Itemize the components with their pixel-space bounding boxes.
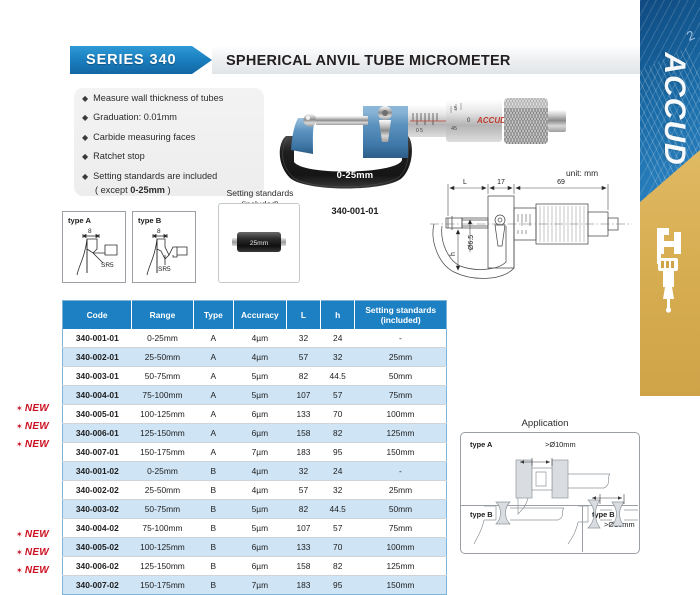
cell-accuracy: 7µm: [233, 443, 286, 462]
cell-type: B: [193, 481, 233, 500]
type-a-drawing: 8 SR5: [63, 225, 125, 281]
cell-range: 50-75mm: [132, 500, 194, 519]
cell-type: B: [193, 500, 233, 519]
cell-range: 150-175mm: [132, 576, 194, 595]
new-marker-label: NEW: [25, 565, 49, 576]
cell-type: A: [193, 329, 233, 348]
table-header-row: Code Range Type Accuracy L h Setting sta…: [63, 301, 447, 330]
cell-range: 100-125mm: [132, 538, 194, 557]
cell-accuracy: 4µm: [233, 348, 286, 367]
cell-code: 340-006-02: [63, 557, 132, 576]
cell-setting-standard: -: [355, 462, 447, 481]
cell-setting-standard: 75mm: [355, 519, 447, 538]
cell-height: 95: [320, 576, 354, 595]
column-header-type: Type: [193, 301, 233, 330]
feature-text: Setting standards are included: [93, 171, 217, 182]
bullet-icon: ◆: [82, 93, 88, 104]
cell-code: 340-002-01: [63, 348, 132, 367]
cell-setting-standard: 150mm: [355, 576, 447, 595]
cell-height: 32: [320, 481, 354, 500]
series-badge-label: SERIES 340: [70, 52, 176, 68]
cell-code: 340-004-02: [63, 519, 132, 538]
cell-height: 70: [320, 538, 354, 557]
technical-drawing: L 17 69 Ø6.5 h: [432, 172, 638, 284]
cell-height: 95: [320, 443, 354, 462]
cell-setting-standard: 50mm: [355, 500, 447, 519]
cell-code: 340-005-02: [63, 538, 132, 557]
cell-setting-standard: 25mm: [355, 348, 447, 367]
cell-length: 82: [286, 367, 320, 386]
table-row: 340-005-01100-125mmA6µm13370100mm: [63, 405, 447, 424]
cell-height: 44.5: [320, 367, 354, 386]
cell-setting-standard: 100mm: [355, 405, 447, 424]
cell-length: 183: [286, 443, 320, 462]
cell-range: 25-50mm: [132, 348, 194, 367]
note-suffix: ): [165, 185, 171, 195]
feature-item: ◆ Measure wall thickness of tubes: [82, 93, 272, 104]
type-b-diagram-box: type B 8 SR5: [132, 211, 196, 283]
svg-text:45: 45: [451, 126, 457, 132]
cell-range: 75-100mm: [132, 519, 194, 538]
cell-length: 133: [286, 405, 320, 424]
cell-length: 57: [286, 481, 320, 500]
cell-type: B: [193, 557, 233, 576]
cell-code: 340-005-01: [63, 405, 132, 424]
product-brand-text: ACCUD: [476, 116, 506, 125]
gauge-size-label: 25mm: [250, 240, 269, 247]
cell-accuracy: 6µm: [233, 405, 286, 424]
table-row: 340-002-0125-50mmA4µm573225mm: [63, 348, 447, 367]
cell-height: 82: [320, 424, 354, 443]
feature-item: ◆ Ratchet stop: [82, 151, 272, 162]
type-a-radius-label: SR5: [101, 262, 114, 269]
cell-length: 32: [286, 329, 320, 348]
cell-accuracy: 4µm: [233, 481, 286, 500]
type-a-label: type A: [68, 216, 91, 225]
series-badge: SERIES 340: [70, 46, 212, 74]
accud-watermark: ACCUD: [657, 49, 691, 169]
cell-type: A: [193, 405, 233, 424]
cell-accuracy: 5µm: [233, 519, 286, 538]
note-bold: 0-25mm: [130, 185, 165, 195]
bullet-icon: ◆: [82, 151, 88, 162]
cell-accuracy: 5µm: [233, 500, 286, 519]
cell-height: 70: [320, 405, 354, 424]
cell-code: 340-001-01: [63, 329, 132, 348]
column-header-code: Code: [63, 301, 132, 330]
type-b-dim-label: 8: [157, 228, 161, 235]
cell-code: 340-006-01: [63, 424, 132, 443]
table-row: 340-007-02150-175mmB7µm18395150mm: [63, 576, 447, 595]
application-panel-b-right: [568, 494, 638, 544]
cell-setting-standard: 125mm: [355, 557, 447, 576]
cell-height: 57: [320, 386, 354, 405]
setting-standard-gauge-image: 25mm: [232, 228, 286, 256]
cell-setting-standard: 75mm: [355, 386, 447, 405]
feature-item: ◆ Graduation: 0.01mm: [82, 112, 272, 123]
cell-accuracy: 5µm: [233, 367, 286, 386]
cell-code: 340-003-02: [63, 500, 132, 519]
table-row: 340-007-01150-175mmA7µm18395150mm: [63, 443, 447, 462]
brand-banner: 2 ACCUD: [640, 0, 700, 396]
table-row: 340-003-0150-75mmA5µm8244.550mm: [63, 367, 447, 386]
cell-code: 340-007-01: [63, 443, 132, 462]
cell-length: 107: [286, 386, 320, 405]
new-star-icon: ✶: [16, 422, 23, 431]
cell-height: 82: [320, 557, 354, 576]
cell-length: 183: [286, 576, 320, 595]
cell-accuracy: 6µm: [233, 424, 286, 443]
cell-range: 100-125mm: [132, 405, 194, 424]
feature-list: ◆ Measure wall thickness of tubes ◆ Grad…: [82, 93, 272, 195]
table-row: 340-006-02125-150mmB6µm15882125mm: [63, 557, 447, 576]
cell-code: 340-007-02: [63, 576, 132, 595]
cell-length: 158: [286, 557, 320, 576]
cell-setting-standard: 150mm: [355, 443, 447, 462]
cell-accuracy: 6µm: [233, 538, 286, 557]
column-header-setting-line2: (included): [357, 315, 444, 325]
new-marker: ✶NEW: [16, 525, 62, 543]
cell-type: A: [193, 348, 233, 367]
new-marker: ✶NEW: [16, 561, 62, 579]
dim-diameter-label: Ø6.5: [468, 235, 475, 250]
product-graduation-label: 0.01mm: [300, 156, 410, 169]
feature-text: Graduation: 0.01mm: [93, 112, 177, 123]
cell-length: 57: [286, 348, 320, 367]
cell-range: 0-25mm: [132, 329, 194, 348]
specifications-table: Code Range Type Accuracy L h Setting sta…: [62, 300, 447, 595]
cell-type: B: [193, 462, 233, 481]
feature-item: ◆ Setting standards are included: [82, 171, 272, 182]
table-row: 340-005-02100-125mmB6µm13370100mm: [63, 538, 447, 557]
cell-range: 25-50mm: [132, 481, 194, 500]
table-row: 340-004-0175-100mmA5µm1075775mm: [63, 386, 447, 405]
cell-height: 44.5: [320, 500, 354, 519]
cell-range: 50-75mm: [132, 367, 194, 386]
cell-height: 24: [320, 462, 354, 481]
new-marker: ✶NEW: [16, 435, 62, 453]
new-star-icon: ✶: [16, 530, 23, 539]
bullet-icon: ◆: [82, 171, 88, 182]
cell-type: B: [193, 519, 233, 538]
product-code-label: 340-001-01: [300, 206, 410, 216]
cell-type: A: [193, 424, 233, 443]
feature-text: Measure wall thickness of tubes: [93, 93, 223, 104]
cell-accuracy: 7µm: [233, 576, 286, 595]
svg-text:0 5: 0 5: [416, 128, 423, 134]
table-row: 340-004-0275-100mmB5µm1075775mm: [63, 519, 447, 538]
cell-length: 82: [286, 500, 320, 519]
type-a-diagram-box: type A 8 SR5: [62, 211, 126, 283]
new-star-icon: ✶: [16, 440, 23, 449]
new-marker-label: NEW: [25, 403, 49, 414]
cell-code: 340-001-02: [63, 462, 132, 481]
type-a-dim-label: 8: [88, 228, 92, 235]
feature-text: Ratchet stop: [93, 151, 145, 162]
cell-accuracy: 5µm: [233, 386, 286, 405]
new-star-icon: ✶: [16, 548, 23, 557]
cell-setting-standard: 125mm: [355, 424, 447, 443]
cell-length: 133: [286, 538, 320, 557]
column-header-accuracy: Accuracy: [233, 301, 286, 330]
cell-setting-standard: 50mm: [355, 367, 447, 386]
cell-setting-standard: -: [355, 329, 447, 348]
cell-accuracy: 4µm: [233, 329, 286, 348]
application-diagrams: [460, 432, 638, 552]
page-title: SPHERICAL ANVIL TUBE MICROMETER: [226, 47, 511, 74]
dim-h-label: h: [450, 252, 457, 256]
new-marker-label: NEW: [25, 439, 49, 450]
type-b-drawing: 8 SR5: [133, 225, 195, 281]
svg-text:5: 5: [454, 106, 457, 112]
new-marker: ✶NEW: [16, 543, 62, 561]
application-panel-b-left: [474, 502, 564, 544]
product-range-label: 0-25mm: [300, 169, 410, 182]
application-title: Application: [455, 418, 635, 429]
column-header-setting-standards: Setting standards (included): [355, 301, 447, 330]
new-star-icon: ✶: [16, 404, 23, 413]
table-row: 340-002-0225-50mmB4µm573225mm: [63, 481, 447, 500]
cell-height: 32: [320, 348, 354, 367]
column-header-setting-line1: Setting standards: [357, 305, 444, 315]
new-marker-label: NEW: [25, 547, 49, 558]
cell-length: 107: [286, 519, 320, 538]
product-spec-labels: 0.01mm 0-25mm: [300, 156, 410, 181]
cell-setting-standard: 25mm: [355, 481, 447, 500]
cell-length: 32: [286, 462, 320, 481]
new-marker-label: NEW: [25, 529, 49, 540]
table-row: 340-003-0250-75mmB5µm8244.550mm: [63, 500, 447, 519]
cell-range: 150-175mm: [132, 443, 194, 462]
cell-accuracy: 4µm: [233, 462, 286, 481]
table-row: 340-006-01125-150mmA6µm15882125mm: [63, 424, 447, 443]
feature-item: ◆ Carbide measuring faces: [82, 132, 272, 143]
cell-type: A: [193, 443, 233, 462]
cell-type: B: [193, 538, 233, 557]
cell-range: 125-150mm: [132, 424, 194, 443]
cell-code: 340-004-01: [63, 386, 132, 405]
new-marker: ✶NEW: [16, 417, 62, 435]
table-row: 340-001-010-25mmA4µm3224-: [63, 329, 447, 348]
cell-type: A: [193, 367, 233, 386]
cell-type: B: [193, 576, 233, 595]
cell-setting-standard: 100mm: [355, 538, 447, 557]
type-b-radius-label: SR5: [158, 266, 171, 273]
feature-text: Carbide measuring faces: [93, 132, 195, 143]
table-body: 340-001-010-25mmA4µm3224-340-002-0125-50…: [63, 329, 447, 595]
dim-69-label: 69: [557, 179, 565, 186]
bullet-icon: ◆: [82, 132, 88, 143]
cell-height: 24: [320, 329, 354, 348]
column-header-l: L: [286, 301, 320, 330]
dim-17-label: 17: [497, 179, 505, 186]
bullet-icon: ◆: [82, 112, 88, 123]
micrometer-outline-icon: [654, 222, 688, 314]
cell-range: 0-25mm: [132, 462, 194, 481]
new-marker-label: NEW: [25, 421, 49, 432]
type-b-label: type B: [138, 216, 161, 225]
note-prefix: ( except: [95, 185, 130, 195]
column-header-range: Range: [132, 301, 194, 330]
cell-range: 125-150mm: [132, 557, 194, 576]
column-header-h: h: [320, 301, 354, 330]
cell-type: A: [193, 386, 233, 405]
cell-accuracy: 6µm: [233, 557, 286, 576]
cell-height: 57: [320, 519, 354, 538]
cell-length: 158: [286, 424, 320, 443]
table-row: 340-001-020-25mmB4µm3224-: [63, 462, 447, 481]
cell-code: 340-002-02: [63, 481, 132, 500]
new-marker: ✶NEW: [16, 399, 62, 417]
cell-code: 340-003-01: [63, 367, 132, 386]
cell-range: 75-100mm: [132, 386, 194, 405]
dim-L-label: L: [463, 179, 467, 186]
